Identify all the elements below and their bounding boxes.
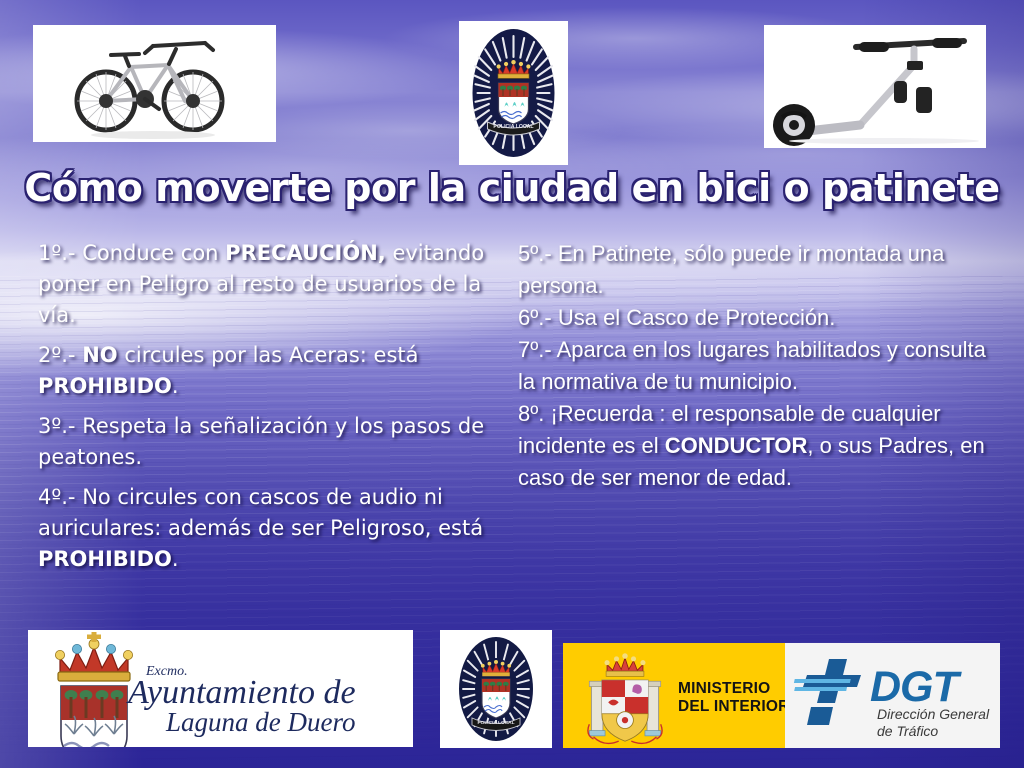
ayuntamiento-line2: Ayuntamiento de xyxy=(126,674,356,711)
rule-left-item: 1º.- Conduce con PRECAUCIÓN, evitando po… xyxy=(38,238,492,331)
rule-number: 3º.- xyxy=(38,414,76,438)
rule-emphasis: CONDUCTOR xyxy=(665,433,808,458)
rule-right-item: 6º.- Usa el Casco de Protección. xyxy=(518,302,986,334)
rule-text: Aparca en los lugares habilitados y cons… xyxy=(518,337,986,394)
rule-text: Conduce con xyxy=(76,241,226,265)
dgt-logo: DGT Dirección General de Tráfico xyxy=(785,643,1000,748)
rule-emphasis: PROHIBIDO xyxy=(38,374,172,398)
rule-text: En Patinete, sólo puede ir montada una p… xyxy=(518,241,944,298)
rules-column-right: 5º.- En Patinete, sólo puede ir montada … xyxy=(500,238,1000,494)
rule-number: 7º.- xyxy=(518,337,552,362)
rule-number: 4º.- xyxy=(38,485,76,509)
rule-emphasis: NO xyxy=(82,343,117,367)
badge-text: POLICIA LOCAL xyxy=(493,124,534,130)
rule-emphasis: PROHIBIDO xyxy=(38,547,172,571)
rule-text: . xyxy=(172,547,179,571)
rule-text: Respeta la señalización y los pasos de p… xyxy=(38,414,484,469)
rule-number: 1º.- xyxy=(38,241,76,265)
ministerio-logo: MINISTERIO DEL INTERIOR xyxy=(563,643,785,748)
rule-right-item: 5º.- En Patinete, sólo puede ir montada … xyxy=(518,238,986,302)
rule-left-item: 4º.- No circules con cascos de audio ni … xyxy=(38,482,492,575)
dgt-line1: Dirección General xyxy=(877,706,990,722)
police-badge-logo: POLICIA LOCAL xyxy=(440,630,552,748)
rule-number: 2º.- xyxy=(38,343,76,367)
rule-right-item: 7º.- Aparca en los lugares habilitados y… xyxy=(518,334,986,398)
page-title: Cómo moverte por la ciudad en bici o pat… xyxy=(0,166,1024,210)
ayuntamiento-logo: Excmo. Ayuntamiento de Laguna de Duero xyxy=(28,630,413,747)
rule-right-item: 8º. ¡Recuerda : el responsable de cualqu… xyxy=(518,398,986,494)
rule-emphasis: PRECAUCIÓN, xyxy=(225,241,386,265)
rule-number: 6º.- xyxy=(518,305,552,330)
rule-text: circules por las Aceras: está xyxy=(118,343,419,367)
rule-number: 8º. xyxy=(518,401,544,426)
slide-canvas: POLICIA LOCAL xyxy=(0,0,1024,768)
rule-number: 5º.- xyxy=(518,241,552,266)
rules-column-left: 1º.- Conduce con PRECAUCIÓN, evitando po… xyxy=(0,238,500,584)
badge-text: POLICIA LOCAL xyxy=(477,720,514,726)
police-badge-photo: POLICIA LOCAL xyxy=(459,21,568,165)
rule-left-item: 2º.- NO circules por las Aceras: está PR… xyxy=(38,340,492,402)
ministerio-line1: MINISTERIO xyxy=(678,680,770,697)
ayuntamiento-line3: Laguna de Duero xyxy=(165,707,356,737)
rule-text: . xyxy=(172,374,179,398)
rule-text: Usa el Casco de Protección. xyxy=(552,305,836,330)
rules-columns: 1º.- Conduce con PRECAUCIÓN, evitando po… xyxy=(0,238,1024,584)
dgt-title: DGT xyxy=(870,663,963,711)
rule-text: No circules con cascos de audio ni auric… xyxy=(38,485,483,540)
dgt-line2: de Tráfico xyxy=(877,723,938,739)
rule-left-item: 3º.- Respeta la señalización y los pasos… xyxy=(38,411,492,473)
ministerio-line2: DEL INTERIOR xyxy=(678,698,785,715)
scooter-photo xyxy=(764,25,986,148)
bicycle-photo xyxy=(33,25,276,142)
